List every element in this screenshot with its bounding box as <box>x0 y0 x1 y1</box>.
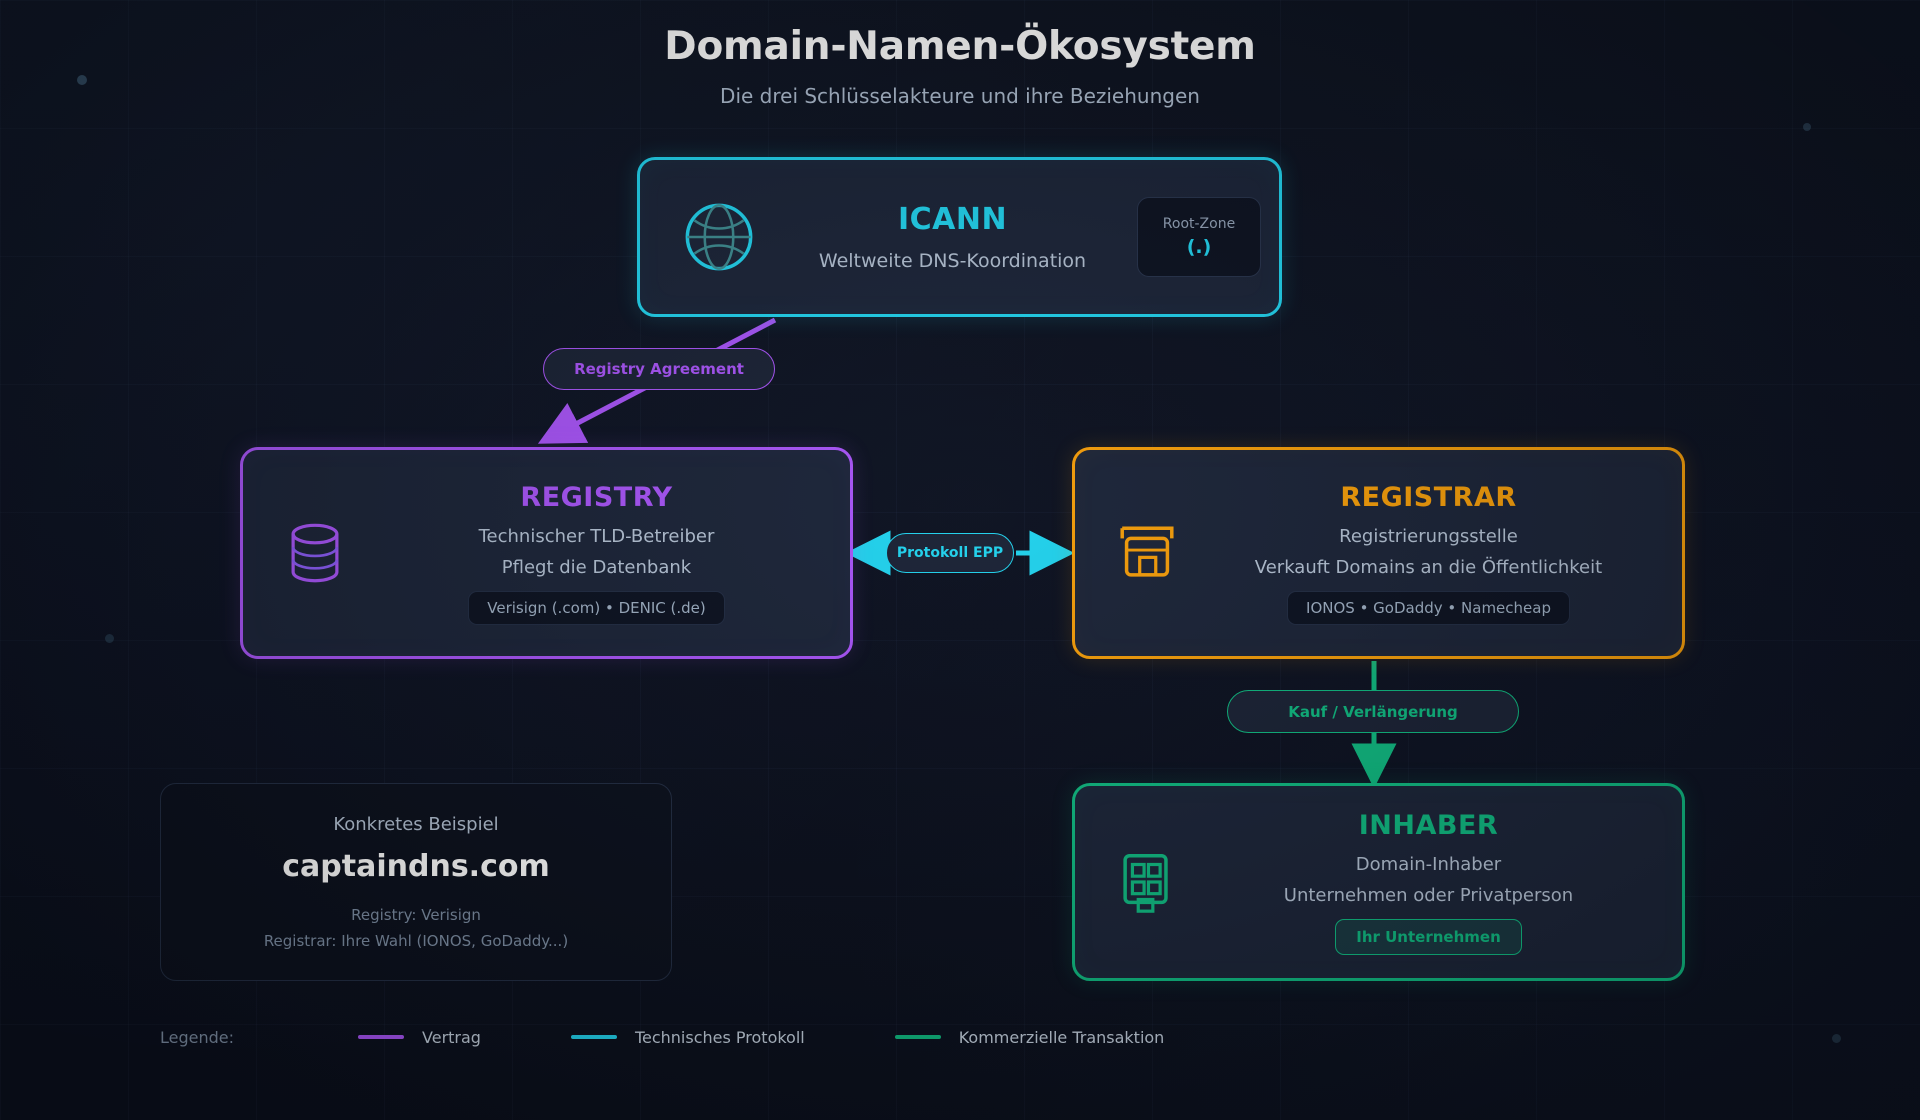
legend: Legende: Vertrag Technisches Protokoll K… <box>160 1022 1254 1052</box>
icann-text-block: ICANN Weltweite DNS-Koordination <box>774 202 1137 272</box>
node-inhaber[interactable]: INHABER Domain-Inhaber Unternehmen oder … <box>1072 783 1685 981</box>
legend-label-transaktion: Kommerzielle Transaktion <box>959 1028 1165 1047</box>
registry-text-block: REGISTRY Technischer TLD-Betreiber Pfleg… <box>365 482 834 625</box>
legend-item-protokoll: Technisches Protokoll <box>571 1028 805 1047</box>
legend-swatch-transaktion <box>895 1035 941 1039</box>
node-registry[interactable]: REGISTRY Technischer TLD-Betreiber Pfleg… <box>240 447 853 659</box>
node-icann[interactable]: ICANN Weltweite DNS-Koordination Root-Zo… <box>637 157 1282 317</box>
registry-line-1: Technischer TLD-Betreiber <box>365 526 828 547</box>
building-icon <box>1097 847 1197 917</box>
legend-title: Legende: <box>160 1028 234 1047</box>
background-dot <box>1832 1034 1841 1043</box>
background-dot <box>105 634 114 643</box>
example-label: Konkretes Beispiel <box>333 814 498 835</box>
legend-item-transaktion: Kommerzielle Transaktion <box>895 1028 1165 1047</box>
example-registrar-line: Registrar: Ihre Wahl (IONOS, GoDaddy...) <box>264 932 568 950</box>
registrar-line-2: Verkauft Domains an die Öffentlichkeit <box>1197 557 1660 578</box>
inhaber-line-2: Unternehmen oder Privatperson <box>1197 885 1660 906</box>
globe-icon <box>664 199 774 275</box>
root-zone-value: (.) <box>1187 236 1212 258</box>
legend-swatch-vertrag <box>358 1035 404 1039</box>
storefront-icon <box>1097 518 1197 588</box>
diagram-canvas: Domain-Namen-Ökosystem Die drei Schlüsse… <box>0 0 1920 1120</box>
registrar-line-1: Registrierungsstelle <box>1197 526 1660 547</box>
database-icon <box>265 518 365 588</box>
example-domain: captaindns.com <box>282 849 549 884</box>
header: Domain-Namen-Ökosystem Die drei Schlüsse… <box>0 24 1920 108</box>
example-card: Konkretes Beispiel captaindns.com Regist… <box>160 783 672 981</box>
label-registry-agreement: Registry Agreement <box>543 348 775 390</box>
registrar-examples-chip: IONOS • GoDaddy • Namecheap <box>1287 591 1570 625</box>
label-kauf-verlaengerung: Kauf / Verlängerung <box>1227 690 1519 733</box>
inhaber-title: INHABER <box>1197 810 1660 841</box>
example-registry-line: Registry: Verisign <box>351 906 481 924</box>
icann-title: ICANN <box>774 202 1131 237</box>
registry-title: REGISTRY <box>365 482 828 513</box>
registrar-text-block: REGISTRAR Registrierungsstelle Verkauft … <box>1197 482 1666 625</box>
page-title: Domain-Namen-Ökosystem <box>0 24 1920 69</box>
node-registrar[interactable]: REGISTRAR Registrierungsstelle Verkauft … <box>1072 447 1685 659</box>
legend-item-vertrag: Vertrag <box>358 1028 481 1047</box>
registry-examples-chip: Verisign (.com) • DENIC (.de) <box>468 591 724 625</box>
inhaber-badge: Ihr Unternehmen <box>1335 919 1522 955</box>
icann-subtitle: Weltweite DNS-Koordination <box>774 250 1131 272</box>
root-zone-label: Root-Zone <box>1163 216 1235 232</box>
background-dot <box>1803 123 1811 131</box>
registry-line-2: Pflegt die Datenbank <box>365 557 828 578</box>
legend-label-vertrag: Vertrag <box>422 1028 481 1047</box>
legend-swatch-protokoll <box>571 1035 617 1039</box>
registrar-title: REGISTRAR <box>1197 482 1660 513</box>
label-protokoll-epp: Protokoll EPP <box>886 533 1014 573</box>
page-subtitle: Die drei Schlüsselakteure und ihre Bezie… <box>0 84 1920 108</box>
legend-label-protokoll: Technisches Protokoll <box>635 1028 805 1047</box>
inhaber-line-1: Domain-Inhaber <box>1197 854 1660 875</box>
inhaber-text-block: INHABER Domain-Inhaber Unternehmen oder … <box>1197 810 1666 955</box>
root-zone-badge[interactable]: Root-Zone (.) <box>1137 197 1261 277</box>
